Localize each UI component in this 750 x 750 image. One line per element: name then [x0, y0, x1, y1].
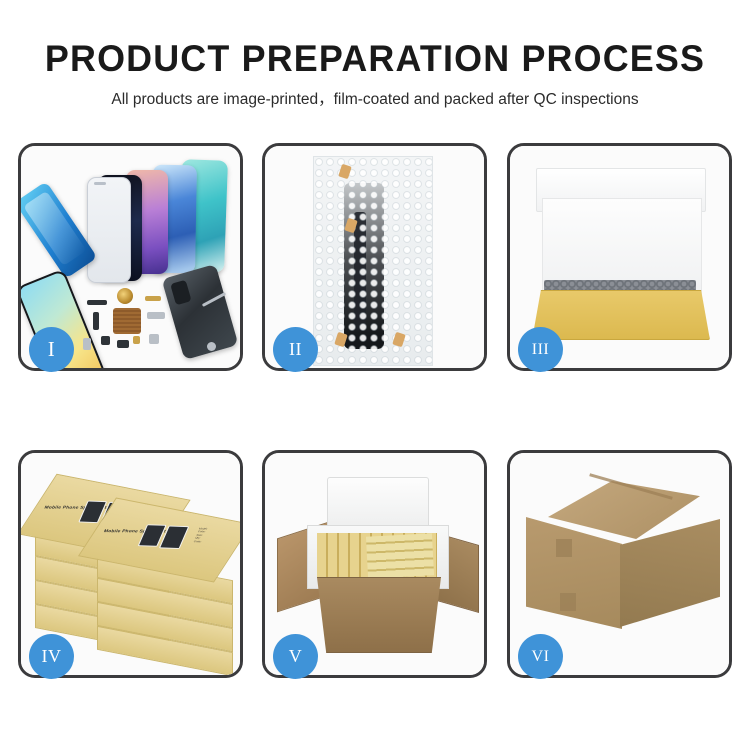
- small-chip-2: [133, 336, 140, 344]
- page-title: PRODUCT PREPARATION PROCESS: [11, 38, 739, 80]
- box-stack: Mobile Phone Spare Parts Model: Color: S…: [31, 471, 237, 663]
- step-5-badge: V: [273, 634, 318, 679]
- carton-tape-lower: [560, 593, 576, 611]
- carton-left-face: [526, 517, 622, 629]
- box-spec-text-right: Model: Color: Size: Qty: Code:: [193, 528, 208, 544]
- camera-module-part: [117, 340, 129, 348]
- part-strip-1: [87, 300, 107, 305]
- blue-film-screen: [21, 181, 97, 279]
- step-1-badge: I: [29, 327, 74, 372]
- small-chip-3: [149, 334, 159, 344]
- product-preparation-infographic: PRODUCT PREPARATION PROCESS All products…: [0, 0, 750, 750]
- sealed-shipping-carton: [526, 481, 720, 641]
- header: PRODUCT PREPARATION PROCESS All products…: [0, 38, 750, 111]
- carton-body: [313, 577, 445, 653]
- small-chip-1: [101, 336, 110, 345]
- step-6-badge: VI: [518, 634, 563, 679]
- process-step-grid: I II: [18, 143, 732, 678]
- screw-part: [207, 342, 216, 351]
- tempered-glass-protector: [87, 177, 131, 283]
- phone-rear-housing: [162, 264, 239, 360]
- carton-tape-upper: [556, 539, 572, 557]
- step-2-badge: II: [273, 327, 318, 372]
- open-shipping-carton: [283, 477, 473, 649]
- process-step-1: I: [18, 143, 243, 371]
- process-step-6: VI: [507, 450, 732, 678]
- logic-board-part: [113, 308, 141, 334]
- bracket-part: [147, 312, 165, 319]
- speaker-coil-part: [117, 288, 133, 304]
- page-subtitle: All products are image-printed，film-coat…: [0, 89, 750, 111]
- step-3-badge: III: [518, 327, 563, 372]
- packed-boxes-row-2: [366, 533, 434, 578]
- process-step-2: II: [262, 143, 487, 371]
- flex-cable-part: [93, 312, 99, 330]
- part-strip-gold: [145, 296, 161, 301]
- sim-tray-part: [83, 338, 91, 350]
- step-4-badge: IV: [29, 634, 74, 679]
- bubble-texture: [314, 157, 432, 365]
- yellow-box-tray: [532, 290, 710, 340]
- process-step-5: V: [262, 450, 487, 678]
- process-step-4: Mobile Phone Spare Parts Model: Color: S…: [18, 450, 243, 678]
- bubble-wrap-bag: [313, 156, 433, 366]
- process-step-3: III: [507, 143, 732, 371]
- white-mailer-box: [530, 168, 712, 340]
